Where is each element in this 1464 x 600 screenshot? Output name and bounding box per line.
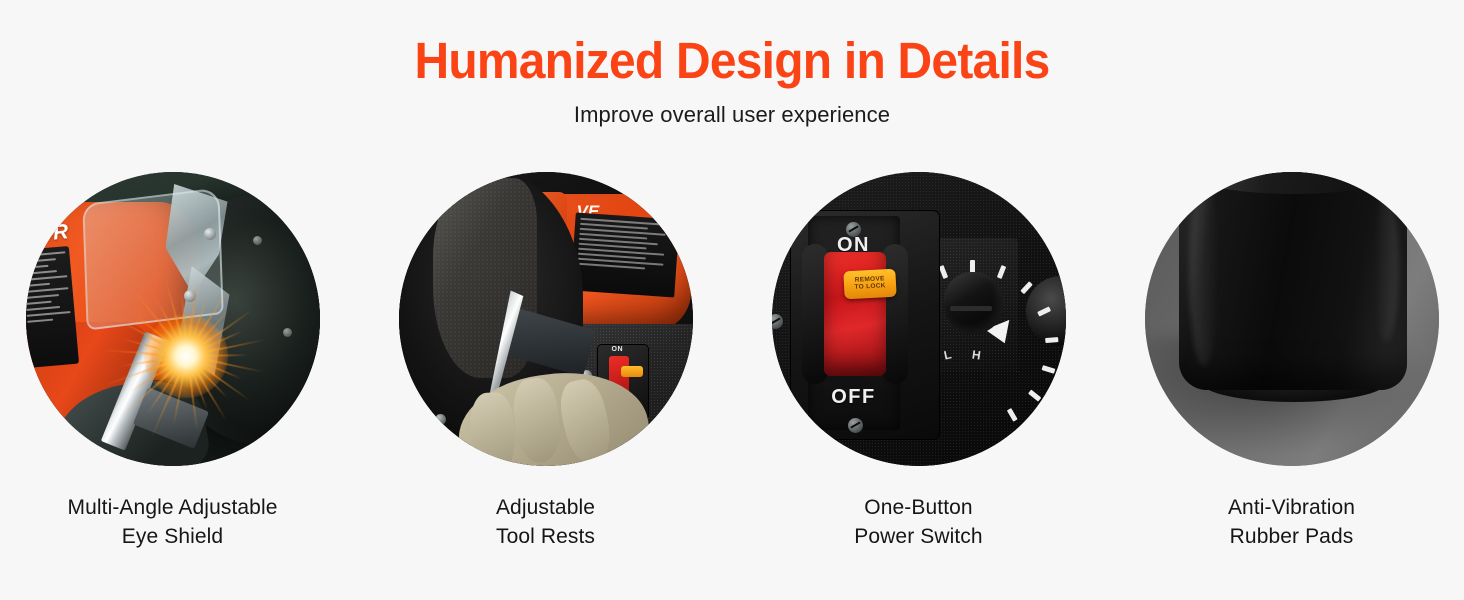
warning-label <box>570 212 679 297</box>
guard-screw-icon <box>435 414 446 425</box>
glove-finger <box>510 376 563 464</box>
feature-photo-power-switch: L H ON OFF REMOVE TO LOCK <box>772 172 1066 466</box>
feature-caption: Adjustable Tool Rests <box>496 494 595 552</box>
feature-photo-eye-shield: /OR <box>26 172 320 466</box>
key-tab-line2: TO LOCK <box>854 283 886 291</box>
switch-on-label: ON <box>612 346 624 353</box>
switch-off-label: OFF <box>808 386 900 409</box>
glove-finger <box>555 376 616 466</box>
shield-bolt-icon <box>204 228 216 240</box>
feature-item-rubber-pads: Anti-Vibration Rubber Pads <box>1145 172 1439 552</box>
panel-screw-icon <box>846 222 861 237</box>
feature-caption: One-Button Power Switch <box>854 494 982 552</box>
pad-highlight <box>1189 176 1219 366</box>
speed-dial-knob <box>944 272 1004 334</box>
safety-key-tab: REMOVE TO LOCK <box>843 269 896 300</box>
safety-key-tab <box>621 366 643 377</box>
housing-screw-icon <box>253 236 262 245</box>
marketing-banner: Humanized Design in Details Improve over… <box>0 0 1464 600</box>
feature-item-power-switch: L H ON OFF REMOVE TO LOCK One-Button Pow <box>772 172 1066 552</box>
speed-high-label: H <box>971 347 982 362</box>
glove-finger <box>469 392 516 466</box>
brand-logo: /OR <box>28 220 69 248</box>
page-title: Humanized Design in Details <box>44 33 1420 89</box>
feature-photo-tool-rests: VE ON OFF <box>399 172 693 466</box>
housing-screw-icon <box>283 328 292 337</box>
feature-item-tool-rests: VE ON OFF <box>399 172 693 552</box>
spark-burst <box>144 314 228 398</box>
feature-photo-rubber-pads <box>1145 172 1439 466</box>
feature-caption: Multi-Angle Adjustable Eye Shield <box>68 494 278 552</box>
feature-caption: Anti-Vibration Rubber Pads <box>1228 494 1355 552</box>
feature-item-eye-shield: /OR Multi-Angle Adjustable Eye Shield <box>26 172 320 552</box>
panel-screw-icon <box>848 418 863 433</box>
feature-list: /OR Multi-Angle Adjustable Eye Shield <box>0 172 1464 552</box>
banner-header: Humanized Design in Details Improve over… <box>0 0 1464 128</box>
pad-highlight <box>1373 192 1399 342</box>
panel-screw-icon <box>772 314 783 329</box>
page-subtitle: Improve overall user experience <box>0 102 1464 128</box>
